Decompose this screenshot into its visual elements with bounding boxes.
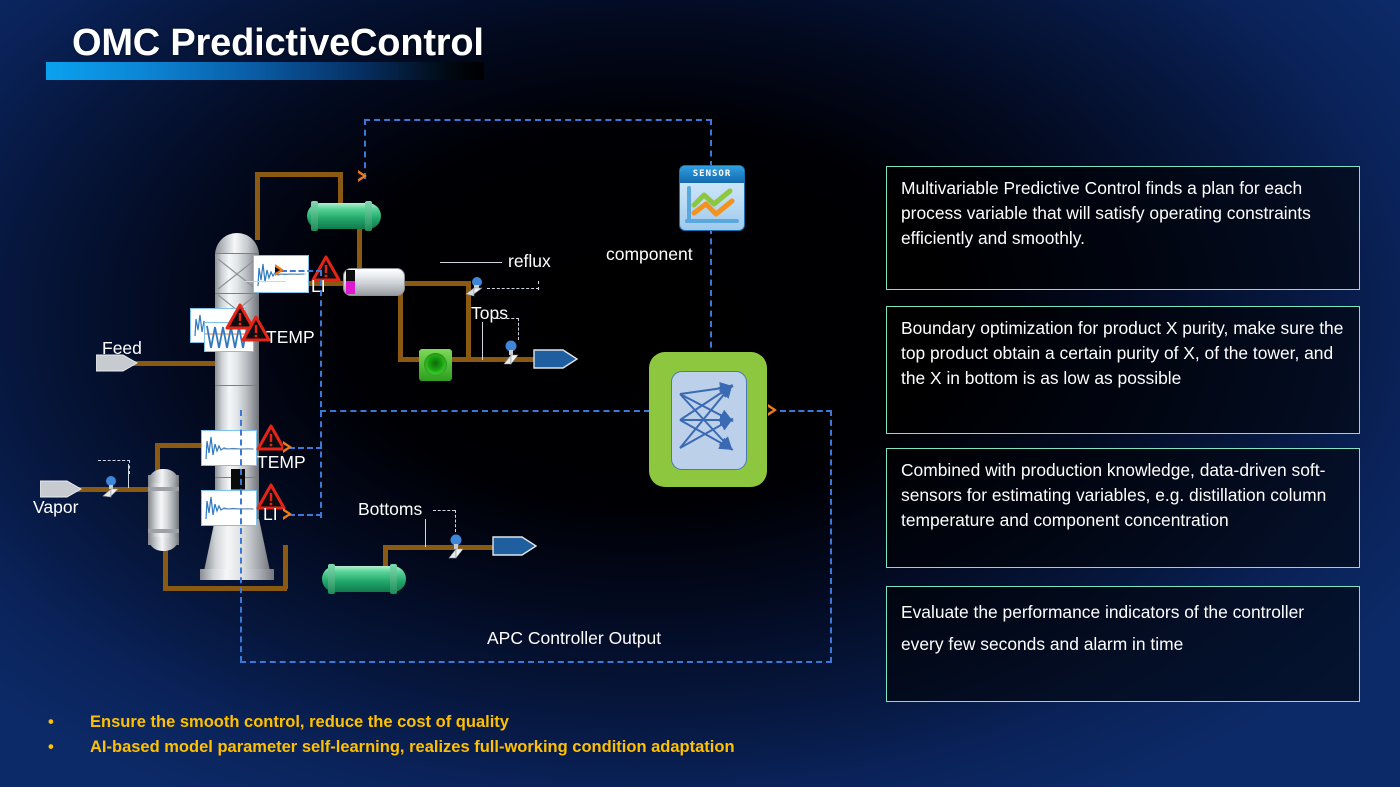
signal-line-lower-level xyxy=(289,514,322,516)
signal-line-upper-temp xyxy=(281,270,322,272)
valve-reflux[interactable] xyxy=(464,276,482,296)
label-tops: Tops xyxy=(471,303,508,324)
pipe-overhead-to-condenser xyxy=(255,172,343,177)
bottoms-stream-arrow xyxy=(492,534,536,556)
info-box-1: Multivariable Predictive Control finds a… xyxy=(886,166,1360,290)
pipe-reboiler-bottom xyxy=(163,545,168,589)
signal-line-sensor-down xyxy=(710,119,712,167)
label-component: component xyxy=(606,244,693,265)
leader-reflux xyxy=(440,262,502,263)
valve-tops[interactable] xyxy=(501,340,519,360)
signal-line-sensor-to-nn xyxy=(710,228,712,358)
label-reflux: reflux xyxy=(508,251,551,272)
slide-canvas: OMC PredictiveControl xyxy=(0,0,1400,787)
leader-reflux-dashed xyxy=(487,288,539,289)
leader-bottoms-dashed xyxy=(433,510,455,511)
label-vapor: Vapor xyxy=(33,497,78,518)
label-li-lower: LI xyxy=(263,504,278,525)
leader-bottoms xyxy=(425,519,426,547)
trend-chart-lower-level[interactable] xyxy=(201,490,257,526)
pipe-column-top-riser xyxy=(255,172,260,240)
signal-line-apc-bottom xyxy=(240,661,832,663)
process-flow-diagram: SENSOR xyxy=(0,0,880,700)
pipe-bottoms-run xyxy=(163,586,287,591)
valve-vapor[interactable] xyxy=(100,476,118,496)
label-bottoms: Bottoms xyxy=(358,499,422,520)
valve-bottoms[interactable] xyxy=(446,534,464,554)
leader-bottoms-dashed-v xyxy=(455,510,456,532)
label-apc-controller-output: APC Controller Output xyxy=(487,628,661,649)
label-li-upper: LI xyxy=(311,276,326,297)
leader-tops xyxy=(482,322,483,360)
info-box-2: Boundary optimization for product X puri… xyxy=(886,306,1360,434)
sensor-icon-label: SENSOR xyxy=(680,166,744,183)
info-box-1-text: Multivariable Predictive Control finds a… xyxy=(901,176,1347,251)
bottoms-cooler xyxy=(318,566,410,592)
bullet-text-2: AI-based model parameter self-learning, … xyxy=(90,735,735,760)
info-box-2-text: Boundary optimization for product X puri… xyxy=(901,316,1347,391)
bullet-marker-1: • xyxy=(44,710,90,735)
signal-line-to-nn xyxy=(320,410,650,412)
pipe-drum-outlet xyxy=(398,292,403,360)
label-temp-upper: TEMP xyxy=(266,327,315,348)
info-box-3: Combined with production knowledge, data… xyxy=(886,448,1360,568)
reflux-pump xyxy=(419,349,452,381)
signal-line-nn-out xyxy=(780,410,832,412)
bullet-item-2: • AI-based model parameter self-learning… xyxy=(44,735,1004,760)
leader-li-upper xyxy=(244,281,286,282)
leader-vapor-dashed xyxy=(98,460,130,461)
leader-reflux-dashed-v xyxy=(538,281,539,290)
label-temp-lower: TEMP xyxy=(257,452,306,473)
bullet-text-1: Ensure the smooth control, reduce the co… xyxy=(90,710,509,735)
signal-line-apc-left xyxy=(240,410,242,662)
pipe-feed xyxy=(130,361,222,366)
reflux-drum xyxy=(343,268,405,296)
signal-line-apc-right xyxy=(830,410,832,663)
trend-chart-lower-temp[interactable] xyxy=(201,430,257,466)
signal-arrow-lower-level xyxy=(283,508,292,520)
signal-arrow-upper-temp xyxy=(275,264,284,276)
overhead-condenser xyxy=(303,203,385,229)
pipe-column-bottom-riser xyxy=(283,545,288,589)
neural-network-block[interactable] xyxy=(649,352,767,487)
column-level-window-dark xyxy=(231,469,245,491)
label-feed: Feed xyxy=(102,338,142,359)
bullet-list: • Ensure the smooth control, reduce the … xyxy=(44,710,1004,760)
reboiler-vessel xyxy=(148,469,179,551)
info-box-4: Evaluate the performance indicators of t… xyxy=(886,586,1360,702)
sensor-icon[interactable]: SENSOR xyxy=(679,165,745,231)
leader-tops-dashed-v xyxy=(518,318,519,340)
info-box-3-text: Combined with production knowledge, data… xyxy=(901,458,1347,533)
signal-arrow-top xyxy=(358,170,367,182)
signal-trunk-left xyxy=(320,270,322,518)
signal-line-top-h xyxy=(364,119,712,121)
tops-stream-arrow xyxy=(533,347,577,369)
info-box-4-text: Evaluate the performance indicators of t… xyxy=(901,596,1347,660)
neural-network-panel xyxy=(671,371,747,470)
leader-vapor-dashed-v xyxy=(129,460,130,474)
sensor-icon-header: SENSOR xyxy=(680,166,744,183)
bullet-marker-2: • xyxy=(44,735,90,760)
neural-network-arrows-icon xyxy=(672,372,743,466)
column-skirt xyxy=(200,519,274,585)
signal-arrow-nn-out xyxy=(768,404,777,416)
alarm-triangle-4-icon[interactable] xyxy=(256,424,286,451)
signal-line-lower-temp xyxy=(289,447,322,449)
bullet-item-1: • Ensure the smooth control, reduce the … xyxy=(44,710,1004,735)
